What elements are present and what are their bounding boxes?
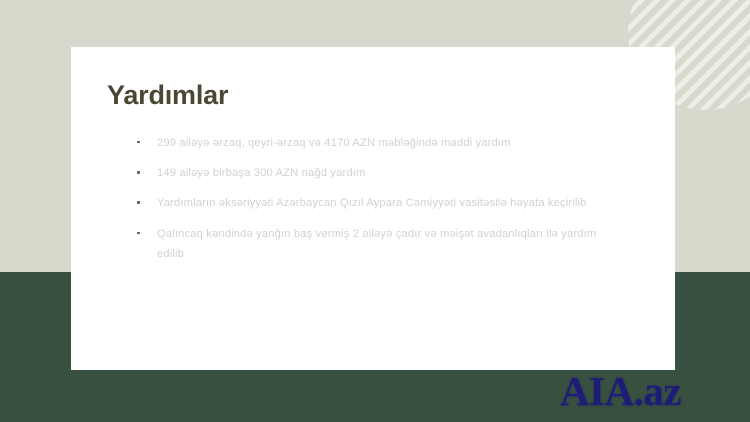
list-item: Qalıncaq kəndində yanğın baş vermiş 2 ai… [133,224,601,265]
list-item: 149 ailəyə birbaşa 300 AZN nağd yardım [133,163,601,183]
presentation-slide: Yardımlar 299 ailəyə ərzaq, qeyri-ərzaq … [0,0,750,422]
page-title: Yardımlar [107,81,639,111]
watermark-logo: AIA.az [560,371,681,412]
slide-content-card: Yardımlar 299 ailəyə ərzaq, qeyri-ərzaq … [71,47,675,370]
list-item: 299 ailəyə ərzaq, qeyri-ərzaq və 4170 AZ… [133,133,601,153]
bullet-list: 299 ailəyə ərzaq, qeyri-ərzaq və 4170 AZ… [107,133,639,265]
list-item: Yardımların əksəriyyəti Azərbaycan Qızıl… [133,193,601,213]
